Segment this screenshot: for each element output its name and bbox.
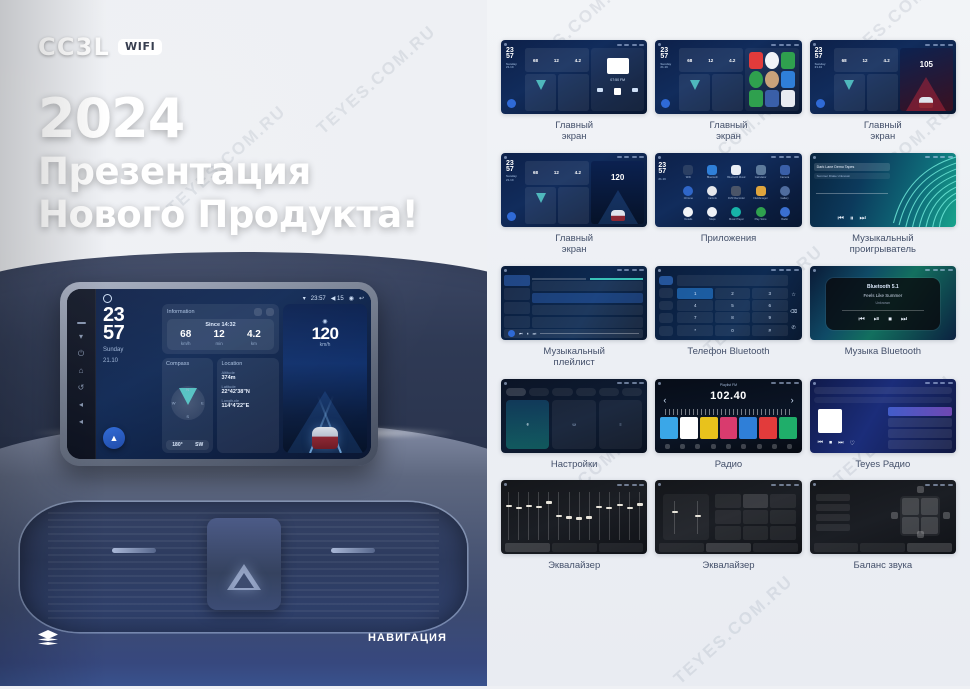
app-icon: FileManager bbox=[750, 183, 772, 202]
status-time: 23:57 bbox=[311, 296, 326, 302]
compass-widget[interactable]: Compass N S W E bbox=[162, 358, 213, 453]
location-latitude: Latitude 22°42'38"N bbox=[221, 384, 275, 395]
balance-preset bbox=[816, 494, 850, 501]
phone-number-input[interactable] bbox=[677, 275, 787, 286]
trip-stat-value: 68 bbox=[180, 330, 191, 340]
thumb-bluetooth-phone[interactable]: 1 2 3 4 5 6 7 8 9 * 0 # ☆ bbox=[655, 266, 801, 340]
eq-slider bbox=[547, 492, 550, 540]
eq-slider bbox=[568, 492, 571, 540]
settings-card-wifi[interactable]: ⌾ bbox=[506, 400, 549, 449]
compass-south-label: S bbox=[186, 414, 189, 419]
eq-icon bbox=[711, 444, 716, 449]
player-track: Dark Lane Demo Tapes bbox=[814, 163, 890, 171]
app-icon: WiFi bbox=[677, 162, 699, 181]
eq-tab-eq[interactable] bbox=[814, 543, 859, 552]
eq-preset bbox=[743, 526, 768, 540]
nav-section-label: НАВИГАЦИЯ bbox=[368, 632, 447, 644]
thumb-bluetooth-music[interactable]: Bluetooth 5.1 Feels Like Summer Unknown … bbox=[810, 266, 956, 340]
gallery-caption: Главныйэкран bbox=[555, 121, 593, 143]
gallery-item[interactable]: ⏮ ⏸ ⏭ Музыкальныйплейлист bbox=[501, 266, 647, 369]
head-unit-bezel: ▾ ⏻ ⌂ ↺ ◂ ◂ ▾ 23:57 ◀ 15 bbox=[60, 282, 378, 466]
eq-slider bbox=[696, 501, 699, 534]
page-title: 2024 Презентация Нового Продукта! bbox=[38, 92, 458, 237]
wifi-icon: ▾ bbox=[303, 295, 306, 302]
radio-preset bbox=[660, 417, 678, 439]
next-icon[interactable]: ⏭ bbox=[859, 215, 865, 223]
eq-preset bbox=[770, 526, 795, 540]
trip-summary: Since 14:32 68 km/h 12 bbox=[167, 319, 274, 350]
bt-version-label: Bluetooth 5.1 bbox=[867, 284, 899, 290]
radio-tuning-scale[interactable] bbox=[665, 409, 791, 415]
logo-wifi-badge: WIFI bbox=[118, 39, 162, 55]
clock-column: 23 57 Sunday 21.10 ▲ bbox=[100, 304, 158, 453]
eq-tab-reset[interactable] bbox=[907, 543, 952, 552]
stop-icon[interactable]: ⏹ bbox=[829, 440, 832, 447]
equalizer-footer-tabs[interactable] bbox=[814, 543, 952, 552]
screens-gallery-panel: TEYES.COM.RU TEYES.COM.RU TEYES.COM.RU T… bbox=[487, 0, 970, 686]
center-vent-panel bbox=[20, 502, 467, 632]
gallery-item[interactable]: ⌾ ⛁ ≡ Настройки bbox=[501, 379, 647, 471]
secondary-widgets: Compass N S W E bbox=[162, 358, 279, 453]
speed-value: 120 bbox=[283, 325, 367, 342]
album-art bbox=[818, 409, 842, 433]
radio-toolbar[interactable] bbox=[659, 443, 797, 451]
keypad-icon bbox=[659, 276, 673, 286]
keypad-key[interactable]: 1 bbox=[677, 288, 713, 299]
navigation-arrow-icon[interactable]: ▲ bbox=[103, 427, 125, 449]
speed-readout: ◉ 120 km/h bbox=[283, 318, 367, 348]
bt-transport-controls[interactable]: ⏮ ⏯ ⏹ ⏭ bbox=[858, 316, 907, 324]
balance-up-button[interactable] bbox=[917, 486, 924, 493]
keypad-key[interactable]: 0 bbox=[715, 325, 751, 336]
head-unit-screen-frame: ▾ ⏻ ⌂ ↺ ◂ ◂ ▾ 23:57 ◀ 15 bbox=[67, 289, 371, 459]
teyes-station-list[interactable] bbox=[888, 407, 952, 449]
gallery-item[interactable]: Dark Lane Demo Tapes Summer Drake Unknow… bbox=[810, 153, 956, 256]
product-logo: CC3L WIFI bbox=[38, 33, 162, 61]
watermark: TEYES.COM.RU bbox=[670, 571, 797, 689]
vol-down-icon[interactable]: ◂ bbox=[79, 401, 83, 409]
gallery-item[interactable]: 2357Sunday21.10 68124.2 120 Глав bbox=[501, 153, 647, 256]
list-item bbox=[888, 440, 952, 449]
radio-preset bbox=[680, 417, 698, 439]
home-icon[interactable]: ⌂ bbox=[79, 367, 84, 375]
gallery-item[interactable]: Баланс звука bbox=[810, 480, 956, 572]
eq-tab-reset[interactable] bbox=[753, 543, 798, 552]
gallery-item[interactable]: 2357Sunday21.10 68124.2 bbox=[655, 40, 801, 143]
balance-preset bbox=[816, 514, 850, 521]
app-icon: Chrome bbox=[677, 183, 699, 202]
thumb-settings[interactable]: ⌾ ⛁ ≡ bbox=[501, 379, 647, 453]
eq-slider bbox=[618, 492, 621, 540]
settings-icon bbox=[659, 326, 673, 336]
gallery-caption: Баланс звука bbox=[854, 561, 913, 572]
eq-slider bbox=[537, 492, 540, 540]
minus-icon[interactable] bbox=[77, 322, 86, 324]
eq-preset bbox=[743, 494, 768, 508]
gear-icon[interactable]: ◉ bbox=[349, 295, 354, 302]
keypad-key[interactable]: 5 bbox=[715, 300, 751, 311]
gallery-caption: Эквалайзер bbox=[548, 561, 600, 572]
settings-cards[interactable]: ⌾ ⛁ ≡ bbox=[506, 400, 642, 449]
home-icon[interactable] bbox=[103, 294, 112, 303]
bt-music-card: Bluetooth 5.1 Feels Like Summer Unknown … bbox=[826, 278, 940, 330]
balance-down-button[interactable] bbox=[917, 531, 924, 538]
loc-icon bbox=[741, 444, 746, 449]
gallery-caption: Главныйэкран bbox=[864, 121, 902, 143]
longitude-value: 114°4'22"E bbox=[221, 403, 275, 409]
app-icon: Details bbox=[677, 205, 699, 224]
app-grid[interactable]: WiFi Bluetooth Bluetooth Music Calculato… bbox=[677, 162, 797, 224]
thumb-home-drive[interactable]: 2357Sunday21.10 68124.2 105 bbox=[810, 40, 956, 114]
st-icon bbox=[757, 444, 762, 449]
app-icon: Bluetooth Music bbox=[725, 162, 747, 181]
bt-track-artist: Unknown bbox=[876, 301, 891, 305]
app-icon: Bluetooth bbox=[701, 162, 723, 181]
information-title: Information bbox=[167, 309, 195, 315]
app-icon: Camera bbox=[774, 162, 796, 181]
next-icon[interactable]: ⏭ bbox=[533, 331, 537, 336]
back-icon[interactable]: ↺ bbox=[78, 384, 85, 392]
teyes-transport[interactable]: ⏮ ⏹ ⏭ ♡ bbox=[818, 440, 855, 447]
gallery-caption: Музыкальныйпроигрыватель bbox=[850, 234, 916, 256]
gallery-item[interactable]: ⏮ ⏹ ⏭ ♡ Teyes Радио bbox=[810, 379, 956, 471]
gallery-item[interactable]: Playlist FM ‹ › 102.40 bbox=[655, 379, 801, 471]
gallery-caption: Приложения bbox=[701, 234, 757, 245]
eq-tab-balance[interactable] bbox=[552, 543, 597, 552]
gallery-item[interactable]: 1 2 3 4 5 6 7 8 9 * 0 # ☆ bbox=[655, 266, 801, 369]
location-longitude: Longitude 114°4'22"E bbox=[221, 398, 275, 409]
gallery-item[interactable]: 2357Sunday21.10 68124.2 07:50 FM bbox=[501, 40, 647, 143]
info-column: Information Since 14:32 bbox=[162, 304, 279, 453]
gallery-caption: Музыкальныйплейлист bbox=[543, 347, 604, 369]
list-icon bbox=[695, 444, 700, 449]
eq-preset bbox=[715, 526, 740, 540]
bt-progress-bar[interactable] bbox=[842, 310, 924, 311]
gallery-item[interactable]: 2357Sunday21.10 68124.2 105 Глав bbox=[810, 40, 956, 143]
app-icon: DVR Recorder bbox=[725, 183, 747, 202]
compass-dial-wrap: N S W E bbox=[166, 367, 209, 438]
balance-seat-pad[interactable] bbox=[900, 496, 940, 536]
eq-slider bbox=[628, 492, 631, 540]
gallery-item[interactable]: Bluetooth 5.1 Feels Like Summer Unknown … bbox=[810, 266, 956, 369]
waveform-visual bbox=[889, 153, 956, 227]
gallery-caption: Teyes Радио bbox=[855, 460, 910, 471]
gallery-caption: Настройки bbox=[551, 460, 598, 471]
back-icon[interactable]: ↩ bbox=[359, 295, 364, 302]
seat-front-left bbox=[902, 498, 919, 515]
compass-west-label: W bbox=[172, 400, 176, 405]
equalizer-footer-tabs[interactable] bbox=[505, 543, 643, 552]
clock-date: 21.10 bbox=[103, 357, 158, 365]
hazard-button[interactable] bbox=[207, 518, 281, 610]
star-icon[interactable]: ☆ bbox=[789, 288, 799, 303]
settings-tabs[interactable] bbox=[506, 388, 642, 396]
app-icon: Music Player bbox=[725, 205, 747, 224]
head-unit-side-buttons[interactable]: ▾ ⏻ ⌂ ↺ ◂ ◂ bbox=[67, 289, 96, 459]
drive-view-widget[interactable]: ◉ 120 km/h bbox=[283, 304, 367, 453]
altitude-value: 374m bbox=[221, 375, 275, 381]
trip-stat: 12 min bbox=[214, 330, 225, 346]
eq-slider bbox=[608, 492, 611, 540]
radio-preset bbox=[779, 417, 797, 439]
vent-slat-left bbox=[112, 548, 156, 553]
eq-slider bbox=[598, 492, 601, 540]
next-icon[interactable]: ⏭ bbox=[901, 316, 907, 324]
status-volume: ◀ 15 bbox=[331, 295, 344, 302]
radio-station-label: Playlist FM bbox=[655, 383, 801, 387]
thumb-teyes-radio[interactable]: ⏮ ⏹ ⏭ ♡ bbox=[810, 379, 956, 453]
radio-frequency: 102.40 bbox=[655, 390, 801, 402]
status-bar-right: ▾ 23:57 ◀ 15 ◉ ↩ bbox=[303, 295, 364, 302]
radio-preset bbox=[739, 417, 757, 439]
keypad-key[interactable]: 2 bbox=[715, 288, 751, 299]
thumb-home-apps[interactable]: 2357Sunday21.10 68124.2 bbox=[655, 40, 801, 114]
stop-icon[interactable]: ⏹ bbox=[888, 316, 892, 324]
balance-left-button[interactable] bbox=[891, 512, 898, 519]
eq-preset bbox=[743, 510, 768, 524]
phone-keypad[interactable]: 1 2 3 4 5 6 7 8 9 * 0 # bbox=[677, 288, 787, 336]
tab-sound[interactable] bbox=[529, 388, 549, 396]
phone-actions[interactable]: ☆ ⌫ ✆ bbox=[789, 288, 799, 336]
app-icon: Gallery bbox=[774, 183, 796, 202]
app-icon: Calculator bbox=[750, 162, 772, 181]
trip-stat-value: 4.2 bbox=[247, 330, 261, 340]
eq-tab-balance[interactable] bbox=[706, 543, 751, 552]
speed-unit: km/h bbox=[283, 342, 367, 348]
phone-side-nav[interactable] bbox=[659, 276, 673, 336]
band-icon bbox=[665, 444, 670, 449]
list-item bbox=[888, 418, 952, 427]
bt-track-title: Feels Like Summer bbox=[863, 293, 902, 298]
eq-slider bbox=[507, 492, 510, 540]
home-widgets: 23 57 Sunday 21.10 ▲ Infor bbox=[100, 304, 367, 453]
keypad-key[interactable]: 9 bbox=[752, 312, 788, 323]
player-controls[interactable]: ⏮ ⏸ ⏭ bbox=[814, 215, 890, 223]
gallery-caption: Эквалайзер bbox=[702, 561, 754, 572]
teyes-nav-bar[interactable] bbox=[814, 387, 952, 394]
trip-stat-label: km/h bbox=[180, 341, 191, 346]
radio-presets[interactable] bbox=[660, 417, 796, 439]
power-icon[interactable]: ⏻ bbox=[78, 350, 84, 358]
layers-icon[interactable] bbox=[38, 630, 58, 646]
information-card[interactable]: Information Since 14:32 bbox=[162, 304, 279, 354]
radio-preset bbox=[759, 417, 777, 439]
app-icon: Radio bbox=[774, 205, 796, 224]
keypad-key[interactable]: 6 bbox=[752, 300, 788, 311]
gallery-caption: Музыка Bluetooth bbox=[845, 347, 921, 358]
history-icon bbox=[659, 301, 673, 311]
thumb-radio[interactable]: Playlist FM ‹ › 102.40 bbox=[655, 379, 801, 453]
trip-stat-label: min bbox=[214, 341, 225, 346]
compass-readout: 180° SW bbox=[166, 440, 209, 450]
hazard-triangle-inner bbox=[234, 573, 254, 588]
prev-icon[interactable]: ⏮ bbox=[858, 316, 864, 324]
location-title: Location bbox=[221, 361, 275, 367]
location-widget[interactable]: Location Altitude 374m Latitude 22°42'38… bbox=[217, 358, 279, 453]
thumb-equalizer-bands[interactable] bbox=[501, 480, 647, 554]
radio-preset bbox=[700, 417, 718, 439]
gallery-item[interactable]: Эквалайзер bbox=[655, 480, 801, 572]
radio-preset bbox=[720, 417, 738, 439]
eq-slider bbox=[527, 492, 530, 540]
balance-preset bbox=[816, 504, 850, 511]
contacts-icon bbox=[659, 288, 673, 298]
balance-presets[interactable] bbox=[816, 494, 850, 531]
playlist-transport[interactable]: ⏮ ⏸ ⏭ bbox=[504, 329, 643, 338]
eq-preset bbox=[770, 510, 795, 524]
eq-preset bbox=[715, 494, 740, 508]
head-unit-display[interactable]: ▾ 23:57 ◀ 15 ◉ ↩ 23 57 bbox=[96, 289, 371, 459]
thumb-speed-value: 105 bbox=[900, 60, 953, 69]
expand-icon[interactable] bbox=[266, 308, 274, 316]
latitude-value: 22°42'38"N bbox=[221, 389, 275, 395]
presentation-page: TEYES.COM.RU TEYES.COM.RU TEYES.COM.RU T… bbox=[0, 0, 970, 686]
information-card-actions[interactable] bbox=[254, 308, 274, 316]
thumb-home-full[interactable]: 2357Sunday21.10 68124.2 120 bbox=[501, 153, 647, 227]
trip-stats: 68 km/h 12 min bbox=[169, 330, 272, 346]
app-icon: Play Store bbox=[750, 205, 772, 224]
prev-icon[interactable]: ⏮ bbox=[818, 440, 823, 447]
settings-icon bbox=[772, 444, 777, 449]
list-item bbox=[888, 429, 952, 438]
clock-minutes: 57 bbox=[103, 324, 158, 342]
trip-stat: 4.2 km bbox=[247, 330, 261, 346]
eq-tab-reset[interactable] bbox=[599, 543, 644, 552]
vol-up-icon[interactable]: ◂ bbox=[79, 418, 83, 426]
screens-grid: 2357Sunday21.10 68124.2 07:50 FM bbox=[501, 40, 956, 572]
keypad-key[interactable]: 3 bbox=[752, 288, 788, 299]
balance-right-button[interactable] bbox=[943, 512, 950, 519]
compass-heading: 180° bbox=[172, 442, 182, 448]
tab-brightness[interactable] bbox=[599, 388, 619, 396]
power-icon bbox=[787, 444, 792, 449]
logo-model-text: CC3L bbox=[38, 33, 110, 61]
eq-slider bbox=[588, 492, 591, 540]
play-pause-icon[interactable]: ⏯ bbox=[874, 316, 880, 324]
eq-slider bbox=[578, 492, 581, 540]
gallery-caption: Радио bbox=[715, 460, 742, 471]
eq-tab-eq[interactable] bbox=[505, 543, 550, 552]
thumb-apps[interactable]: 235721.10 WiFi Bluetooth Bluetooth Music… bbox=[655, 153, 801, 227]
tab-other[interactable] bbox=[622, 388, 642, 396]
headline-line-1: Презентация bbox=[38, 150, 458, 193]
compass-direction: SW bbox=[195, 442, 203, 448]
pause-icon[interactable]: ⏸ bbox=[850, 215, 854, 223]
eq-preset bbox=[770, 494, 795, 508]
thumb-equalizer-simple[interactable] bbox=[655, 480, 801, 554]
tab-wifi[interactable] bbox=[506, 388, 526, 396]
gallery-caption: Телефон Bluetooth bbox=[687, 347, 769, 358]
compass-north-label: N bbox=[186, 387, 189, 392]
heart-icon[interactable]: ♡ bbox=[849, 440, 854, 447]
gallery-caption: Главныйэкран bbox=[710, 121, 748, 143]
app-icon: CarLink bbox=[701, 183, 723, 202]
trip-stat-label: km bbox=[247, 341, 261, 346]
settings-card-carlink[interactable]: ⛁ bbox=[552, 400, 595, 449]
seat-front-right bbox=[921, 498, 938, 515]
keypad-key[interactable]: 7 bbox=[677, 312, 713, 323]
search-icon bbox=[680, 444, 685, 449]
headline-year: 2024 bbox=[38, 92, 458, 146]
thumb-music-player[interactable]: Dark Lane Demo Tapes Summer Drake Unknow… bbox=[810, 153, 956, 227]
clock-weekday: Sunday bbox=[103, 346, 158, 354]
eq-tab-balance[interactable] bbox=[860, 543, 905, 552]
pause-icon[interactable]: ⏸ bbox=[527, 331, 529, 336]
car-avatar bbox=[312, 427, 338, 449]
thumb-playlist[interactable]: ⏮ ⏸ ⏭ bbox=[501, 266, 647, 340]
eq-slider bbox=[638, 492, 641, 540]
player-artist: Summer Drake Unknown bbox=[814, 173, 890, 179]
thumb-sound-balance[interactable] bbox=[810, 480, 956, 554]
teyes-filter-bar[interactable] bbox=[814, 397, 952, 403]
gallery-caption: Главныйэкран bbox=[555, 234, 593, 256]
backspace-icon[interactable]: ⌫ bbox=[789, 304, 799, 319]
prev-icon[interactable]: ⏮ bbox=[519, 331, 523, 336]
car-dashboard-illustration: ▾ ⏻ ⌂ ↺ ◂ ◂ ▾ 23:57 ◀ 15 bbox=[0, 252, 487, 686]
vent-slat-right bbox=[331, 548, 375, 553]
trip-since-label: Since 14:32 bbox=[169, 322, 272, 328]
clock-widget: 23 57 Sunday 21.10 bbox=[103, 306, 158, 365]
eq-slider bbox=[557, 492, 560, 540]
settings-card-menu[interactable]: ≡ bbox=[599, 400, 642, 449]
wifi-icon[interactable]: ▾ bbox=[79, 333, 83, 341]
equalizer-bands[interactable] bbox=[507, 492, 641, 540]
refresh-icon[interactable] bbox=[254, 308, 262, 316]
status-bar: ▾ 23:57 ◀ 15 ◉ ↩ bbox=[100, 293, 367, 304]
trip-stat-value: 12 bbox=[214, 330, 225, 340]
trip-stat: 68 km/h bbox=[180, 330, 191, 346]
information-card-header: Information bbox=[167, 308, 274, 316]
list-item bbox=[888, 407, 952, 416]
next-icon[interactable]: ⏭ bbox=[838, 440, 843, 447]
keypad-key[interactable]: 4 bbox=[677, 300, 713, 311]
rds-icon bbox=[726, 444, 731, 449]
favorites-icon bbox=[659, 313, 673, 323]
tab-system[interactable] bbox=[552, 388, 572, 396]
eq-preset bbox=[715, 510, 740, 524]
thumb-home-music[interactable]: 2357Sunday21.10 68124.2 07:50 FM bbox=[501, 40, 647, 114]
keypad-key[interactable]: * bbox=[677, 325, 713, 336]
compass-dial: N S W E bbox=[171, 386, 205, 420]
eq-slider bbox=[517, 492, 520, 540]
location-altitude: Altitude 374m bbox=[221, 370, 275, 381]
eq-slider bbox=[673, 501, 676, 534]
gallery-item[interactable]: Эквалайзер bbox=[501, 480, 647, 572]
prev-icon[interactable]: ⏮ bbox=[838, 215, 844, 223]
headline-line-2: Нового Продукта! bbox=[38, 193, 458, 236]
thumb-speed-value: 120 bbox=[591, 173, 644, 182]
compass-east-label: E bbox=[201, 400, 204, 405]
equalizer-footer-tabs[interactable] bbox=[659, 543, 797, 552]
balance-preset bbox=[816, 524, 850, 531]
hero-panel: TEYES.COM.RU TEYES.COM.RU TEYES.COM.RU T… bbox=[0, 0, 487, 686]
eq-tab-eq[interactable] bbox=[659, 543, 704, 552]
keypad-key[interactable]: 8 bbox=[715, 312, 751, 323]
gallery-item[interactable]: 235721.10 WiFi Bluetooth Bluetooth Music… bbox=[655, 153, 801, 256]
call-icon[interactable]: ✆ bbox=[789, 321, 799, 336]
keypad-key[interactable]: # bbox=[752, 325, 788, 336]
tab-screen[interactable] bbox=[576, 388, 596, 396]
app-icon: Maps bbox=[701, 205, 723, 224]
